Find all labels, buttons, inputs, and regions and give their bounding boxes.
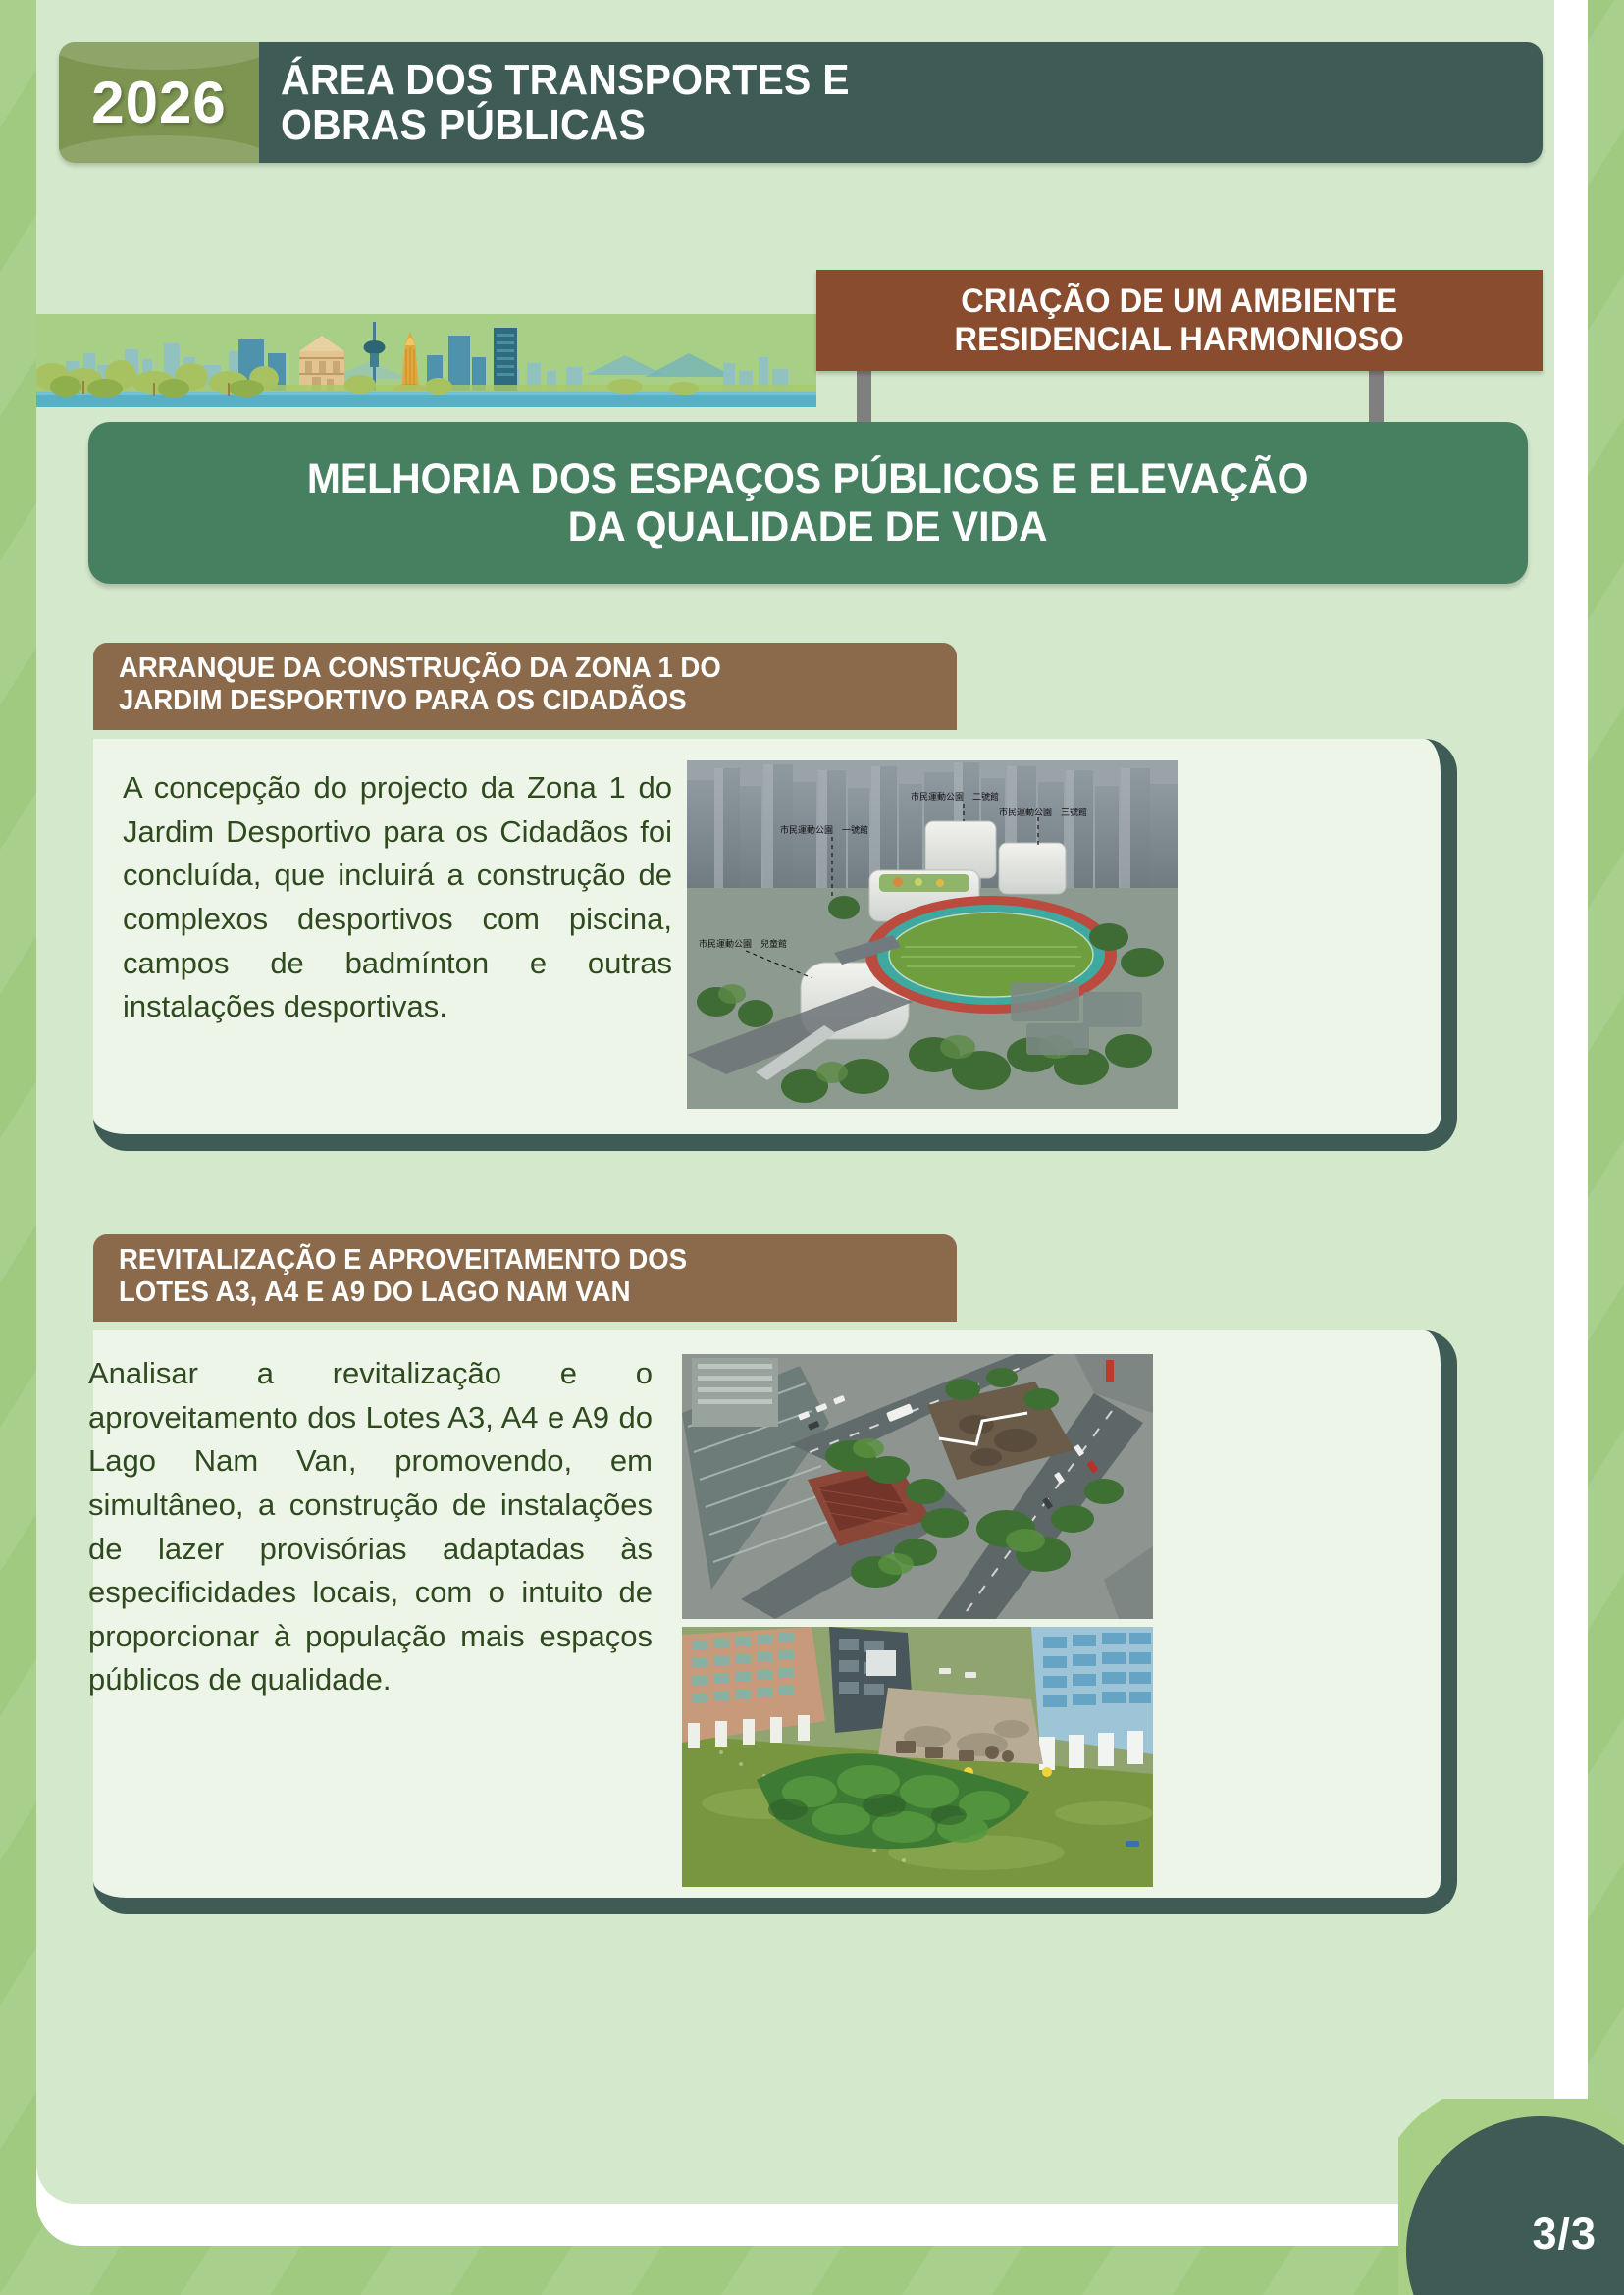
theme-banner: CRIAÇÃO DE UM AMBIENTE RESIDENCIAL HARMO… bbox=[816, 270, 1543, 371]
banner-connector-post-left bbox=[857, 365, 871, 422]
page-title: ÁREA DOS TRANSPORTES E OBRAS PÚBLICAS bbox=[281, 58, 850, 148]
banner-connector-post-right bbox=[1369, 365, 1384, 422]
svg-text:市民運動公園 二號館: 市民運動公園 二號館 bbox=[911, 791, 999, 803]
svg-text:市民運動公園 兒童館: 市民運動公園 兒童館 bbox=[699, 938, 787, 950]
year-badge: 2026 bbox=[59, 42, 259, 163]
card-2-text: Analisar a revitalização e o aproveitame… bbox=[88, 1352, 653, 1702]
card-1-image-sports-park: 市民運動公園 一號館 市民運動公園 二號館 市民運動公園 三號館 市民運動公園 … bbox=[687, 760, 1178, 1109]
section-banner-text: MELHORIA DOS ESPAÇOS PÚBLICOS E ELEVAÇÃO… bbox=[307, 455, 1309, 549]
year-badge-decoration-top bbox=[59, 42, 259, 70]
macau-skyline-illustration bbox=[36, 314, 816, 407]
page-number-badge: 3/3 bbox=[1398, 2099, 1624, 2295]
skyline-svg bbox=[36, 314, 816, 407]
year-badge-decoration-bottom bbox=[59, 135, 259, 163]
theme-banner-text: CRIAÇÃO DE UM AMBIENTE RESIDENCIAL HARMO… bbox=[955, 283, 1404, 357]
card-1-body: A concepção do projecto da Zona 1 do Jar… bbox=[93, 739, 1457, 1151]
infographic-page: 2026 ÁREA DOS TRANSPORTES E OBRAS PÚBLIC… bbox=[0, 0, 1624, 2295]
svg-text:市民運動公園 三號館: 市民運動公園 三號館 bbox=[999, 807, 1087, 818]
year-label: 2026 bbox=[91, 69, 226, 136]
card-2-image-vacant-lots bbox=[682, 1354, 1153, 1619]
card-2-image-lakeside-lot bbox=[682, 1627, 1153, 1887]
aerial-vacant-lots bbox=[682, 1354, 1153, 1619]
page-number-label: 3/3 bbox=[1532, 2209, 1597, 2260]
page-header: 2026 ÁREA DOS TRANSPORTES E OBRAS PÚBLIC… bbox=[59, 42, 1543, 163]
card-2-body: Analisar a revitalização e o aproveitame… bbox=[93, 1330, 1457, 1914]
card-1-title: ARRANQUE DA CONSTRUÇÃO DA ZONA 1 DO JARD… bbox=[119, 652, 891, 718]
card-1-header: ARRANQUE DA CONSTRUÇÃO DA ZONA 1 DO JARD… bbox=[93, 643, 957, 730]
card-2-header: REVITALIZAÇÃO E APROVEITAMENTO DOS LOTES… bbox=[93, 1234, 957, 1322]
section-banner: MELHORIA DOS ESPAÇOS PÚBLICOS E ELEVAÇÃO… bbox=[88, 422, 1528, 584]
aerial-lakeside-lot bbox=[682, 1627, 1153, 1887]
card-2-title: REVITALIZAÇÃO E APROVEITAMENTO DOS LOTES… bbox=[119, 1244, 891, 1310]
card-1-text: A concepção do projecto da Zona 1 do Jar… bbox=[123, 766, 672, 1029]
header-title-container: ÁREA DOS TRANSPORTES E OBRAS PÚBLICAS bbox=[259, 42, 1543, 163]
svg-text:市民運動公園 一號館: 市民運動公園 一號館 bbox=[780, 824, 868, 836]
sports-park-render: 市民運動公園 一號館 市民運動公園 二號館 市民運動公園 三號館 市民運動公園 … bbox=[687, 760, 1178, 1109]
